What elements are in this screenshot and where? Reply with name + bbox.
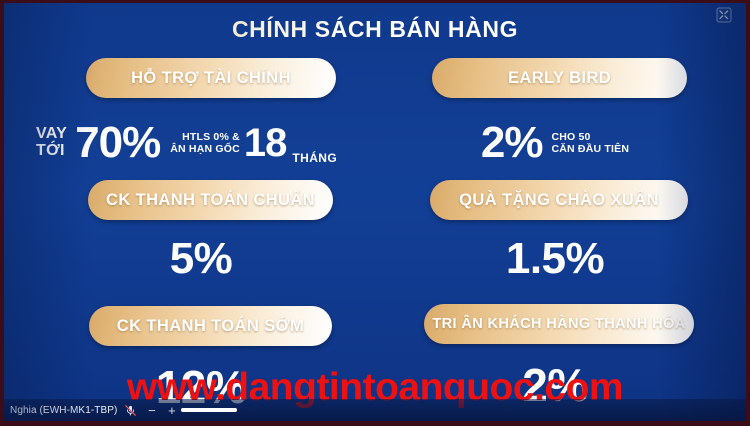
fullscreen-icon[interactable] — [716, 7, 732, 23]
page-title: CHÍNH SÁCH BÁN HÀNG — [4, 16, 746, 43]
pill-tri-an-khach-hang[interactable]: TRI ÂN KHÁCH HÀNG THANH HÓA — [424, 304, 694, 344]
loan-note-line-1: HTLS 0% & — [170, 131, 240, 143]
participant-name-label: Nghia (EWH-MK1-TBP) — [10, 405, 117, 416]
volume-slider-fill — [181, 408, 237, 412]
volume-up-button[interactable]: + — [166, 404, 177, 417]
loan-months-value: 18 — [244, 123, 287, 163]
early-bird-percent-value: 2% — [481, 121, 543, 165]
early-bird-note-line-1: CHO 50 — [551, 131, 629, 143]
pill-ho-tro-tai-chinh[interactable]: HỖ TRỢ TÀI CHÍNH — [86, 58, 336, 98]
microphone-muted-icon[interactable] — [124, 404, 137, 417]
screen-frame: CHÍNH SÁCH BÁN HÀNG HỖ TRỢ TÀI CHÍNH VAY… — [0, 0, 750, 426]
loan-lead-line-2: TỚI — [36, 143, 67, 160]
right-column: EARLY BIRD 2% CHO 50 CĂN ĐẦU TIÊN QUÀ TẶ… — [390, 58, 720, 412]
value-ck-thanh-toan-chuan: 5% — [36, 234, 366, 284]
loan-note: HTLS 0% & ÂN HẠN GỐC — [170, 131, 240, 155]
pill-label: HỖ TRỢ TÀI CHÍNH — [131, 69, 291, 88]
pill-ck-thanh-toan-chuan[interactable]: CK THANH TOÁN CHUẨN — [88, 180, 333, 220]
video-control-bar: Nghia (EWH-MK1-TBP) − + — [4, 399, 746, 421]
left-column: HỖ TRỢ TÀI CHÍNH VAY TỚI 70% HTLS 0% & Â… — [36, 58, 366, 414]
pill-label: CK THANH TOÁN SỚM — [117, 317, 304, 336]
pill-label: CK THANH TOÁN CHUẨN — [106, 191, 315, 210]
early-bird-note: CHO 50 CĂN ĐẦU TIÊN — [551, 131, 629, 155]
early-bird-note-line-2: CĂN ĐẦU TIÊN — [551, 143, 629, 155]
pill-qua-tang-chao-xuan[interactable]: QUÀ TẶNG CHÀO XUÂN — [430, 180, 688, 220]
volume-down-button[interactable]: − — [146, 404, 157, 417]
volume-slider[interactable] — [181, 408, 237, 412]
loan-stat-row: VAY TỚI 70% HTLS 0% & ÂN HẠN GỐC 18 THÁN… — [36, 112, 366, 174]
loan-months-unit: THÁNG — [292, 151, 337, 165]
pill-label: EARLY BIRD — [508, 69, 611, 88]
loan-lead-line-1: VAY — [36, 126, 67, 143]
pill-early-bird[interactable]: EARLY BIRD — [432, 58, 687, 98]
pill-label: QUÀ TẶNG CHÀO XUÂN — [459, 191, 659, 210]
value-qua-tang-chao-xuan: 1.5% — [390, 234, 720, 284]
loan-note-line-2: ÂN HẠN GỐC — [170, 143, 240, 155]
early-bird-stat-row: 2% CHO 50 CĂN ĐẦU TIÊN — [390, 112, 720, 174]
loan-percent-value: 70% — [75, 121, 160, 165]
loan-lead-label: VAY TỚI — [36, 126, 67, 160]
pill-label: TRI ÂN KHÁCH HÀNG THANH HÓA — [432, 316, 685, 332]
presentation-slide: CHÍNH SÁCH BÁN HÀNG HỖ TRỢ TÀI CHÍNH VAY… — [4, 3, 746, 421]
pill-ck-thanh-toan-som[interactable]: CK THANH TOÁN SỚM — [89, 306, 332, 346]
